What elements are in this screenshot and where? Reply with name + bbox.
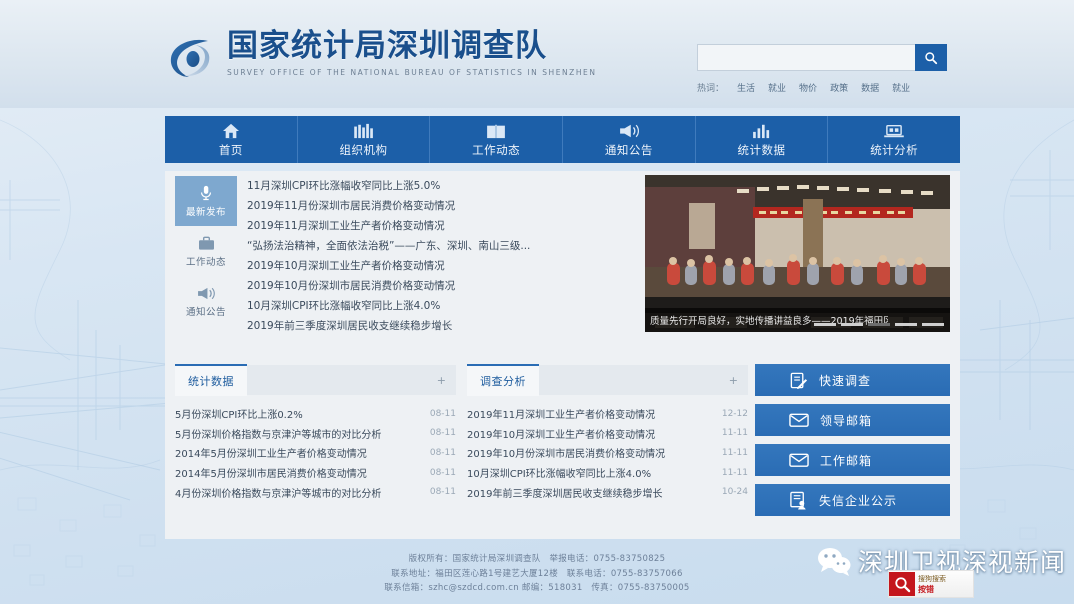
news-title: 2019年前三季度深圳居民收支继续稳步增长 xyxy=(247,318,676,333)
list-item[interactable]: 2019年10月份深圳市居民消费价格变动情况 11-11 xyxy=(467,443,748,463)
list-item[interactable]: 5月份深圳CPI环比上涨0.2% 08-11 xyxy=(175,404,456,424)
nav-label: 统计分析 xyxy=(870,142,918,158)
site-subtitle: SURVEY OFFICE OF THE NATIONAL BUREAU OF … xyxy=(227,68,597,77)
list-item-date: 11-11 xyxy=(722,468,748,478)
nav-label: 统计数据 xyxy=(738,142,786,158)
laptop-icon xyxy=(883,122,905,139)
sogou-badge-top-label: 搜狗搜索 xyxy=(918,574,946,584)
open-book-icon xyxy=(486,122,506,139)
news-title: 10月深圳CPI环比涨幅收窄同比上涨4.0% xyxy=(247,298,676,313)
news-item[interactable]: “弘扬法治精神，全面依法治税”——广东、深圳、南山三级... 12-10 xyxy=(247,235,712,255)
news-title: 2019年10月深圳工业生产者价格变动情况 xyxy=(247,258,676,273)
side-tab-list: 最新发布 工作动态 xyxy=(175,176,237,326)
carousel-dot[interactable] xyxy=(841,323,863,326)
carousel-dot[interactable] xyxy=(814,323,836,326)
card-tab[interactable]: 调查分析 xyxy=(467,364,539,396)
quick-survey-button[interactable]: 快速调查 xyxy=(755,364,950,396)
work-mailbox-button[interactable]: 工作邮箱 xyxy=(755,444,950,476)
news-title: 2019年11月深圳工业生产者价格变动情况 xyxy=(247,218,676,233)
quick-button-label: 失信企业公示 xyxy=(819,492,897,509)
list-item[interactable]: 2014年5月份深圳工业生产者价格变动情况 08-11 xyxy=(175,443,456,463)
list-item-date: 11-11 xyxy=(722,448,748,458)
carousel-dot[interactable] xyxy=(868,323,890,326)
news-item[interactable]: 2019年10月份深圳市居民消费价格变动情况 11-11 xyxy=(247,275,712,295)
card-body: 2019年11月深圳工业生产者价格变动情况 12-12 2019年10月深圳工业… xyxy=(467,395,748,502)
news-title: 11月深圳CPI环比涨幅收窄同比上涨5.0% xyxy=(247,178,676,193)
side-tab-announcements[interactable]: 通知公告 xyxy=(175,276,237,326)
megaphone-icon xyxy=(197,285,216,302)
home-icon xyxy=(222,122,240,139)
hot-keyword[interactable]: 数据 xyxy=(861,81,879,94)
card-more-button[interactable]: + xyxy=(729,374,738,387)
list-item-date: 08-11 xyxy=(430,468,456,478)
news-title: 2019年11月份深圳市居民消费价格变动情况 xyxy=(247,198,676,213)
search-icon xyxy=(924,51,938,65)
quick-button-label: 领导邮箱 xyxy=(820,412,872,429)
list-item-title: 2019年10月深圳工业生产者价格变动情况 xyxy=(467,426,716,441)
sogou-search-icon xyxy=(889,572,915,596)
list-item-date: 08-11 xyxy=(430,409,456,419)
news-carousel[interactable]: 质量先行开局良好，实地传播讲益良多——2019年福田区“数据质量年 xyxy=(645,175,950,332)
news-title: “弘扬法治精神，全面依法治税”——广东、深圳、南山三级... xyxy=(247,238,676,253)
news-item[interactable]: 2019年11月份深圳市居民消费价格变动情况 12-12 xyxy=(247,195,712,215)
card-tab[interactable]: 统计数据 xyxy=(175,364,247,396)
bottom-lists-block: 统计数据 + 5月份深圳CPI环比上涨0.2% 08-11 5月份深圳价格指数与… xyxy=(165,347,960,533)
card-header: 调查分析 + xyxy=(467,365,748,395)
side-tab-label: 工作动态 xyxy=(186,254,226,268)
latest-news-block: 最新发布 工作动态 xyxy=(165,171,960,337)
news-item[interactable]: 2019年11月深圳工业生产者价格变动情况 12-12 xyxy=(247,215,712,235)
list-item-date: 12-12 xyxy=(722,409,748,419)
list-item-title: 2014年5月份深圳市居民消费价格变动情况 xyxy=(175,465,424,480)
list-item-date: 08-11 xyxy=(430,487,456,497)
carousel-dot[interactable] xyxy=(922,323,944,326)
list-item-title: 2019年10月份深圳市居民消费价格变动情况 xyxy=(467,445,716,460)
card-more-button[interactable]: + xyxy=(437,374,446,387)
list-item-title: 2019年11月深圳工业生产者价格变动情况 xyxy=(467,406,716,421)
search-button[interactable] xyxy=(915,44,947,71)
news-item[interactable]: 2019年前三季度深圳居民收支继续稳步增长 10-24 xyxy=(247,316,712,336)
card-header: 统计数据 + xyxy=(175,365,456,395)
envelope-icon xyxy=(789,452,809,468)
nav-label: 通知公告 xyxy=(605,142,653,158)
megaphone-icon xyxy=(618,122,640,139)
list-item[interactable]: 2014年5月份深圳市居民消费价格变动情况 08-11 xyxy=(175,463,456,483)
main-content-panel: 最新发布 工作动态 xyxy=(165,171,960,539)
list-item[interactable]: 4月份深圳价格指数与京津沪等城市的对比分析 08-11 xyxy=(175,482,456,502)
hot-keywords-row: 热词： 生活 就业 物价 政策 数据 就业 xyxy=(697,81,947,94)
site-header: 国家统计局深圳调查队 SURVEY OFFICE OF THE NATIONAL… xyxy=(0,0,1074,108)
nav-item-statistics-data[interactable]: 统计数据 xyxy=(696,116,829,163)
hot-keyword[interactable]: 就业 xyxy=(768,81,786,94)
search-area: 热词： 生活 就业 物价 政策 数据 就业 xyxy=(697,44,947,94)
news-item[interactable]: 2019年10月深圳工业生产者价格变动情况 11-11 xyxy=(247,255,712,275)
dishonest-enterprise-button[interactable]: 失信企业公示 xyxy=(755,484,950,516)
list-item[interactable]: 2019年前三季度深圳居民收支继续稳步增长 10-24 xyxy=(467,482,748,502)
hot-keyword[interactable]: 政策 xyxy=(830,81,848,94)
quick-action-buttons: 快速调查 领导邮箱 xyxy=(755,364,950,524)
list-item-title: 2019年前三季度深圳居民收支继续稳步增长 xyxy=(467,485,716,500)
hot-keywords-label: 热词： xyxy=(697,81,724,94)
search-input[interactable] xyxy=(697,44,915,71)
site-logo-block[interactable]: 国家统计局深圳调查队 SURVEY OFFICE OF THE NATIONAL… xyxy=(165,28,597,84)
nav-item-organization[interactable]: 组织机构 xyxy=(298,116,431,163)
news-title: 2019年10月份深圳市居民消费价格变动情况 xyxy=(247,278,676,293)
carousel-dot[interactable] xyxy=(895,323,917,326)
side-tab-label: 通知公告 xyxy=(186,304,226,318)
main-navigation: 首页 组织机构 工作动态 xyxy=(165,116,960,163)
side-tab-label: 最新发布 xyxy=(186,204,226,218)
sogou-badge[interactable]: 搜狗搜索 按错 xyxy=(888,570,974,598)
envelope-icon xyxy=(789,412,809,428)
nav-label: 首页 xyxy=(219,142,243,158)
list-item[interactable]: 2019年10月深圳工业生产者价格变动情况 11-11 xyxy=(467,424,748,444)
list-item-title: 5月份深圳CPI环比上涨0.2% xyxy=(175,406,424,421)
list-item-title: 5月份深圳价格指数与京津沪等城市的对比分析 xyxy=(175,426,424,441)
briefcase-icon xyxy=(198,235,215,252)
list-item-title: 2014年5月份深圳工业生产者价格变动情况 xyxy=(175,445,424,460)
org-building-icon xyxy=(353,122,375,139)
wechat-icon xyxy=(817,547,851,576)
news-list: 11月深圳CPI环比涨幅收窄同比上涨5.0% 12-12 2019年11月份深圳… xyxy=(247,175,712,336)
bar-chart-icon xyxy=(751,122,773,139)
nav-label: 组织机构 xyxy=(340,142,388,158)
microphone-icon xyxy=(199,185,213,202)
hot-keyword[interactable]: 就业 xyxy=(892,81,910,94)
card-statistics-data: 统计数据 + 5月份深圳CPI环比上涨0.2% 08-11 5月份深圳价格指数与… xyxy=(175,365,456,502)
carousel-caption-bar: 质量先行开局良好，实地传播讲益良多——2019年福田区“数据质量年 xyxy=(645,308,950,332)
list-item-title: 4月份深圳价格指数与京津沪等城市的对比分析 xyxy=(175,485,424,500)
news-item[interactable]: 10月深圳CPI环比涨幅收窄同比上涨4.0% 11-11 xyxy=(247,296,712,316)
nav-item-statistics-analysis[interactable]: 统计分析 xyxy=(828,116,960,163)
list-item[interactable]: 5月份深圳价格指数与京津沪等城市的对比分析 08-11 xyxy=(175,424,456,444)
list-item[interactable]: 2019年11月深圳工业生产者价格变动情况 12-12 xyxy=(467,404,748,424)
clipboard-pen-icon xyxy=(789,371,808,390)
card-body: 5月份深圳CPI环比上涨0.2% 08-11 5月份深圳价格指数与京津沪等城市的… xyxy=(175,395,456,502)
leader-mailbox-button[interactable]: 领导邮箱 xyxy=(755,404,950,436)
list-item-title: 10月深圳CPI环比涨幅收窄同比上涨4.0% xyxy=(467,465,716,480)
hot-keyword[interactable]: 生活 xyxy=(737,81,755,94)
list-item-date: 11-11 xyxy=(722,428,748,438)
carousel-dots xyxy=(814,323,944,326)
side-tab-latest[interactable]: 最新发布 xyxy=(175,176,237,226)
nav-item-announcements[interactable]: 通知公告 xyxy=(563,116,696,163)
list-item-date: 08-11 xyxy=(430,428,456,438)
list-item[interactable]: 10月深圳CPI环比涨幅收窄同比上涨4.0% 11-11 xyxy=(467,463,748,483)
sogou-badge-bottom-label: 按错 xyxy=(918,584,946,595)
document-person-icon xyxy=(789,491,808,510)
card-survey-analysis: 调查分析 + 2019年11月深圳工业生产者价格变动情况 12-12 2019年… xyxy=(467,365,748,502)
list-item-date: 08-11 xyxy=(430,448,456,458)
nav-item-home[interactable]: 首页 xyxy=(165,116,298,163)
page-title: 国家统计局深圳调查队 xyxy=(227,28,597,64)
swoosh-logo-icon xyxy=(165,32,217,84)
list-item-date: 10-24 xyxy=(722,487,748,497)
side-tab-work-news[interactable]: 工作动态 xyxy=(175,226,237,276)
nav-item-work-news[interactable]: 工作动态 xyxy=(430,116,563,163)
quick-button-label: 快速调查 xyxy=(819,372,871,389)
quick-button-label: 工作邮箱 xyxy=(820,452,872,469)
news-item[interactable]: 11月深圳CPI环比涨幅收窄同比上涨5.0% 12-12 xyxy=(247,175,712,195)
hot-keyword[interactable]: 物价 xyxy=(799,81,817,94)
nav-label: 工作动态 xyxy=(472,142,520,158)
